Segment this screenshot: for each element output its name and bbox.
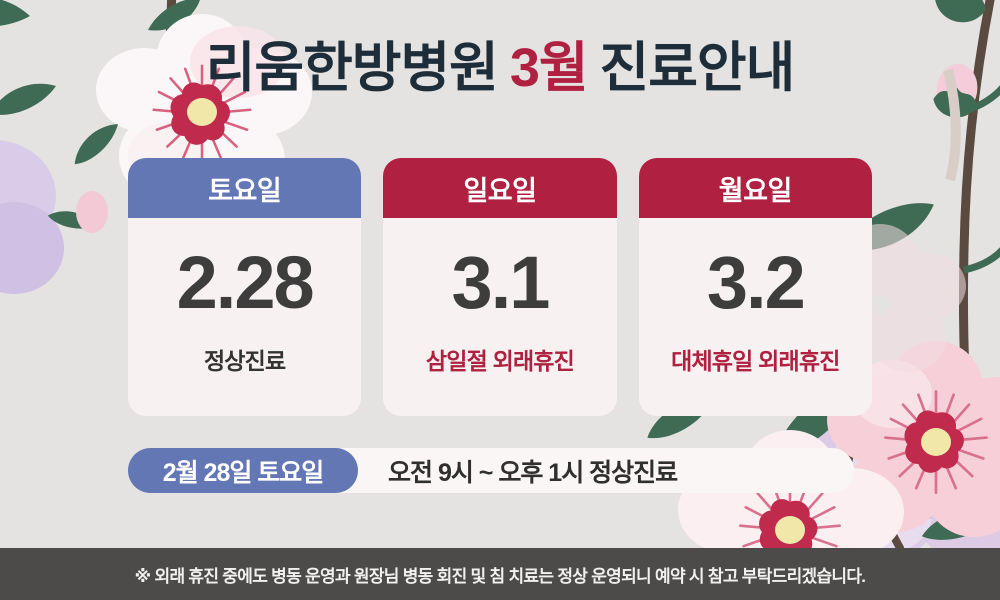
card-status: 삼일절 외래휴진 <box>426 342 574 376</box>
card-date: 3.1 <box>452 246 549 320</box>
hours-info-bar: 2월 28일 토요일 오전 9시 ~ 오후 1시 정상진료 <box>128 448 854 493</box>
card-body: 3.2 대체휴일 외래휴진 <box>639 218 872 416</box>
hours-detail-text: 오전 9시 ~ 오후 1시 정상진료 <box>340 448 854 493</box>
card-status: 대체휴일 외래휴진 <box>671 342 839 376</box>
footer-notice-bar: ※ 외래 휴진 중에도 병동 운영과 원장님 병동 회진 및 침 치료는 정상 … <box>0 548 1000 600</box>
page-title: 리움한방병원3월진료안내 <box>0 38 1000 98</box>
card-date: 3.2 <box>707 246 804 320</box>
schedule-card-saturday[interactable]: 토요일 2.28 정상진료 <box>128 158 361 416</box>
title-subject: 진료안내 <box>600 38 795 98</box>
card-weekday-header: 일요일 <box>383 158 616 218</box>
hours-date-pill: 2월 28일 토요일 <box>128 448 358 493</box>
card-weekday-header: 월요일 <box>639 158 872 218</box>
card-body: 3.1 삼일절 외래휴진 <box>383 218 616 416</box>
footer-notice-text: ※ 외래 휴진 중에도 병동 운영과 원장님 병동 회진 및 침 치료는 정상 … <box>135 562 866 587</box>
poster-canvas: 리움한방병원3월진료안내 토요일 2.28 정상진료 일요일 3.1 삼일절 외… <box>0 0 1000 600</box>
schedule-card-sunday[interactable]: 일요일 3.1 삼일절 외래휴진 <box>383 158 616 416</box>
hospital-name: 리움한방병원 <box>206 38 498 98</box>
schedule-card-monday[interactable]: 월요일 3.2 대체휴일 외래휴진 <box>639 158 872 416</box>
month-accent: 3월 <box>510 38 588 98</box>
card-body: 2.28 정상진료 <box>128 218 361 416</box>
schedule-card-list: 토요일 2.28 정상진료 일요일 3.1 삼일절 외래휴진 월요일 3.2 대… <box>128 158 872 416</box>
card-date: 2.28 <box>177 246 313 320</box>
card-status: 정상진료 <box>204 342 285 376</box>
card-weekday-header: 토요일 <box>128 158 361 218</box>
